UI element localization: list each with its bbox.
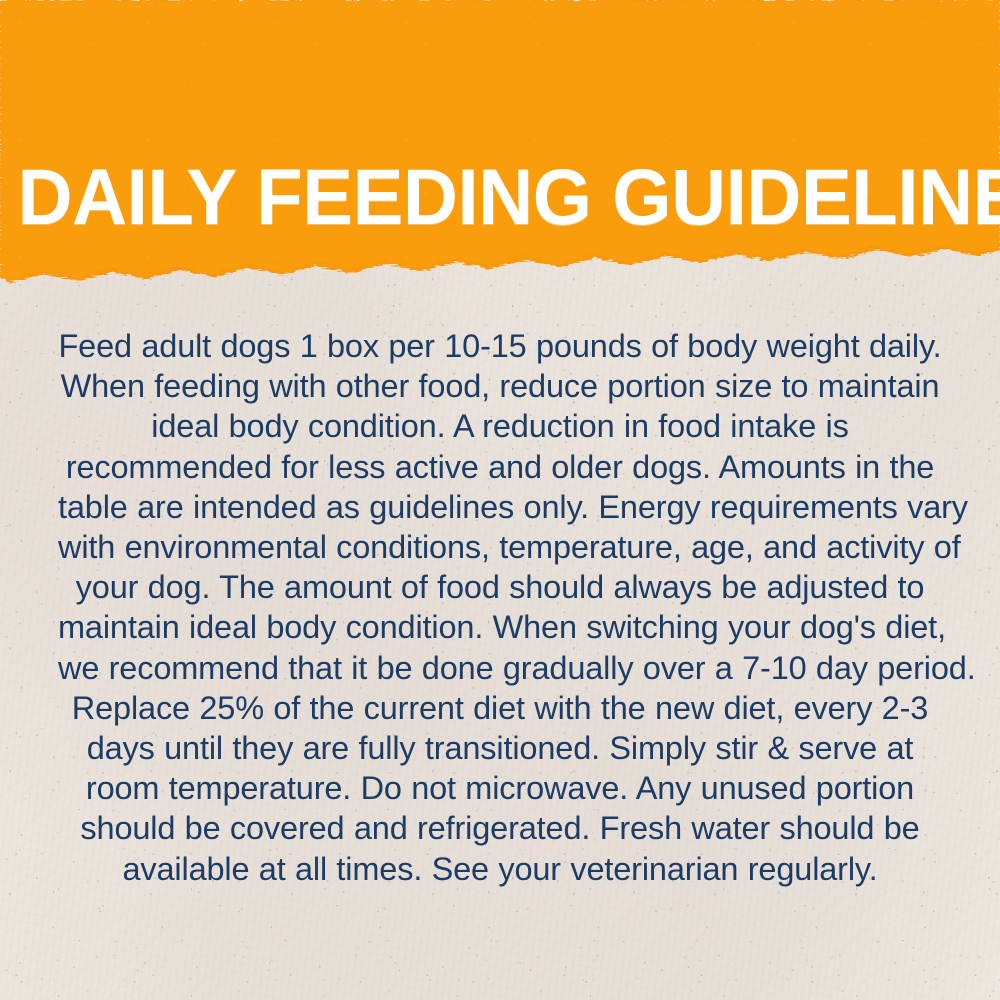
body-line: Replace 25% of the current diet with the… <box>58 688 942 728</box>
body-line: When feeding with other food, reduce por… <box>58 366 942 406</box>
body-line: room temperature. Do not microwave. Any … <box>58 768 942 808</box>
body-line: table are intended as guidelines only. E… <box>58 487 942 527</box>
body-line: with environmental conditions, temperatu… <box>58 527 942 567</box>
orange-header-band <box>0 0 1000 300</box>
page-title: DAILY FEEDING GUIDELINES <box>18 157 983 237</box>
body-line: Feed adult dogs 1 box per 10-15 pounds o… <box>58 326 942 366</box>
body-line: recommended for less active and older do… <box>58 447 942 487</box>
body-line: should be covered and refrigerated. Fres… <box>58 808 942 848</box>
body-line: days until they are fully transitioned. … <box>58 728 942 768</box>
body-line: available at all times. See your veterin… <box>58 849 942 889</box>
body-line: we recommend that it be done gradually o… <box>58 648 942 688</box>
body-line: your dog. The amount of food should alwa… <box>58 567 942 607</box>
feeding-instructions-text: Feed adult dogs 1 box per 10-15 pounds o… <box>58 326 942 889</box>
body-line: maintain ideal body condition. When swit… <box>58 607 942 647</box>
packaging-panel: DAILY FEEDING GUIDELINES Feed adult dogs… <box>0 0 1000 1000</box>
body-line: ideal body condition. A reduction in foo… <box>58 406 942 446</box>
